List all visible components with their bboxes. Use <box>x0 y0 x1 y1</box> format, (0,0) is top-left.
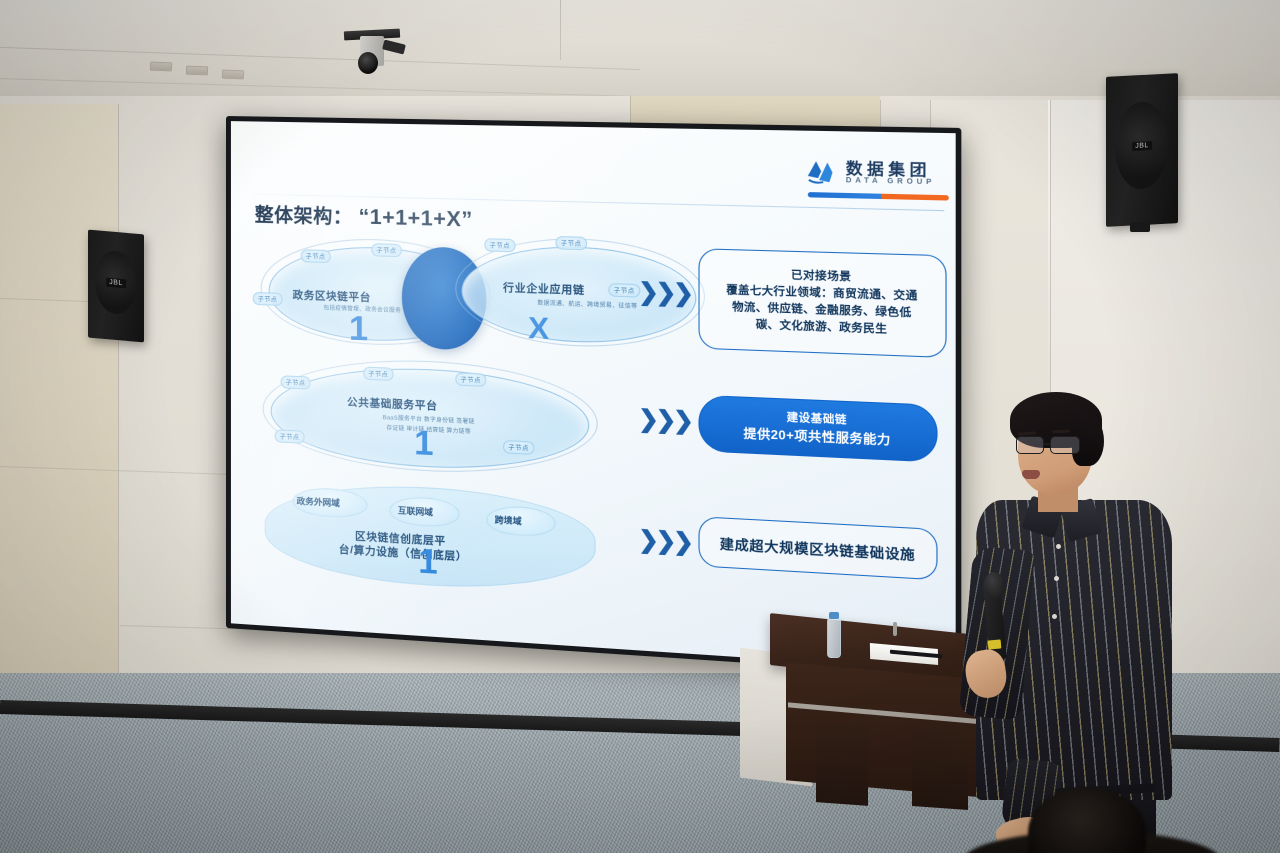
ceiling-vent <box>186 66 208 76</box>
chain-node: 子节点 <box>608 283 640 298</box>
callout-line: 碳、文化旅游、政务民生 <box>756 317 888 339</box>
ceiling-vent <box>222 70 244 80</box>
slide-title-quoted: “1+1+1+X” <box>359 205 473 231</box>
ceiling-vent <box>150 62 172 72</box>
wall-seam <box>118 104 119 722</box>
shirt-button <box>1054 576 1059 581</box>
logo-accent-bar <box>808 192 949 201</box>
podium-leg-left <box>816 722 868 806</box>
domain-label-1: 互联网域 <box>398 504 433 518</box>
chain-node: 子节点 <box>555 236 586 250</box>
chevron-icon-base-chain: ❯❯❯ <box>638 407 691 433</box>
water-bottle-cap <box>829 612 839 619</box>
company-logo: 数据集团 DATA GROUP <box>806 158 935 188</box>
layer-marker-1: 1 <box>414 426 433 462</box>
chain-node: 子节点 <box>503 440 534 455</box>
ceiling-camera-lens-icon <box>358 52 378 74</box>
layer-marker-1: 1 <box>418 544 437 580</box>
wall-speaker-left: JBL <box>88 230 144 343</box>
chain-node: 子节点 <box>363 367 393 381</box>
slide-title: 整体架构：“1+1+1+X” <box>255 200 473 233</box>
wall-panel-left <box>0 104 118 704</box>
domain-label-0: 政务外网域 <box>297 495 340 509</box>
layer-marker-1: 1 <box>349 311 368 346</box>
wall-speaker-right: JBL <box>1106 73 1178 227</box>
microphone-label <box>988 639 1002 649</box>
chain-node: 子节点 <box>455 372 486 387</box>
callout-head: 已对接场景 <box>791 268 851 287</box>
chevron-icon-infrastructure: ❯❯❯ <box>638 528 691 555</box>
slide-title-prefix: 整体架构： <box>255 205 353 229</box>
speaker-bracket <box>1130 222 1150 232</box>
chain-label-industry: 行业企业应用链 <box>503 280 585 298</box>
water-bottle <box>827 618 841 658</box>
podium-mic-knob <box>893 622 897 636</box>
shirt-button <box>1052 614 1057 619</box>
projection-screen[interactable]: 数据集团 DATA GROUP 整体架构：“1+1+1+X” 子节点 子节点 子… <box>226 116 961 677</box>
domain-label-2: 跨境域 <box>495 514 522 528</box>
chain-node: 子节点 <box>281 375 311 389</box>
speaker-brand-badge: JBL <box>106 277 126 288</box>
callout-line: 提供20+项共性服务能力 <box>744 424 891 449</box>
conference-room-scene: JBL JBL 数据集团 DATA GROUP <box>0 0 1280 853</box>
callout-head: 建成超大规模区块链基础设施 <box>720 533 916 564</box>
slide-content: 数据集团 DATA GROUP 整体架构：“1+1+1+X” 子节点 子节点 子… <box>231 121 956 671</box>
chain-node: 子节点 <box>371 243 401 257</box>
chain-label-government: 政务区块链平台 <box>293 287 371 305</box>
logo-text-cn: 数据集团 <box>846 161 935 179</box>
shirt-button <box>1056 544 1061 549</box>
layer-marker-x: X <box>528 313 549 345</box>
eyeglass-lens-left <box>1016 436 1044 454</box>
chain-node: 子节点 <box>301 249 331 263</box>
callout-scenarios[interactable]: 已对接场景 覆盖七大行业领域：商贸流通、交通 物流、供应链、金融服务、绿色低 碳… <box>698 248 946 358</box>
chain-node: 子节点 <box>253 292 283 306</box>
logo-text-en: DATA GROUP <box>846 177 935 187</box>
ceiling-seam <box>560 0 561 60</box>
data-group-logo-icon <box>806 158 839 186</box>
callout-infrastructure[interactable]: 建成超大规模区块链基础设施 <box>698 516 937 580</box>
eyeglasses-icon <box>1016 436 1094 454</box>
presenter-mouth <box>1022 470 1040 479</box>
chevron-icon-scenarios: ❯❯❯ <box>638 280 691 306</box>
callout-base-chain[interactable]: 建设基础链 提供20+项共性服务能力 <box>698 395 937 463</box>
eyeglass-lens-right <box>1050 436 1080 454</box>
chain-node: 子节点 <box>275 429 305 443</box>
speaker-brand-badge: JBL <box>1132 140 1152 150</box>
presenter <box>960 388 1190 853</box>
chain-node: 子节点 <box>484 238 515 252</box>
